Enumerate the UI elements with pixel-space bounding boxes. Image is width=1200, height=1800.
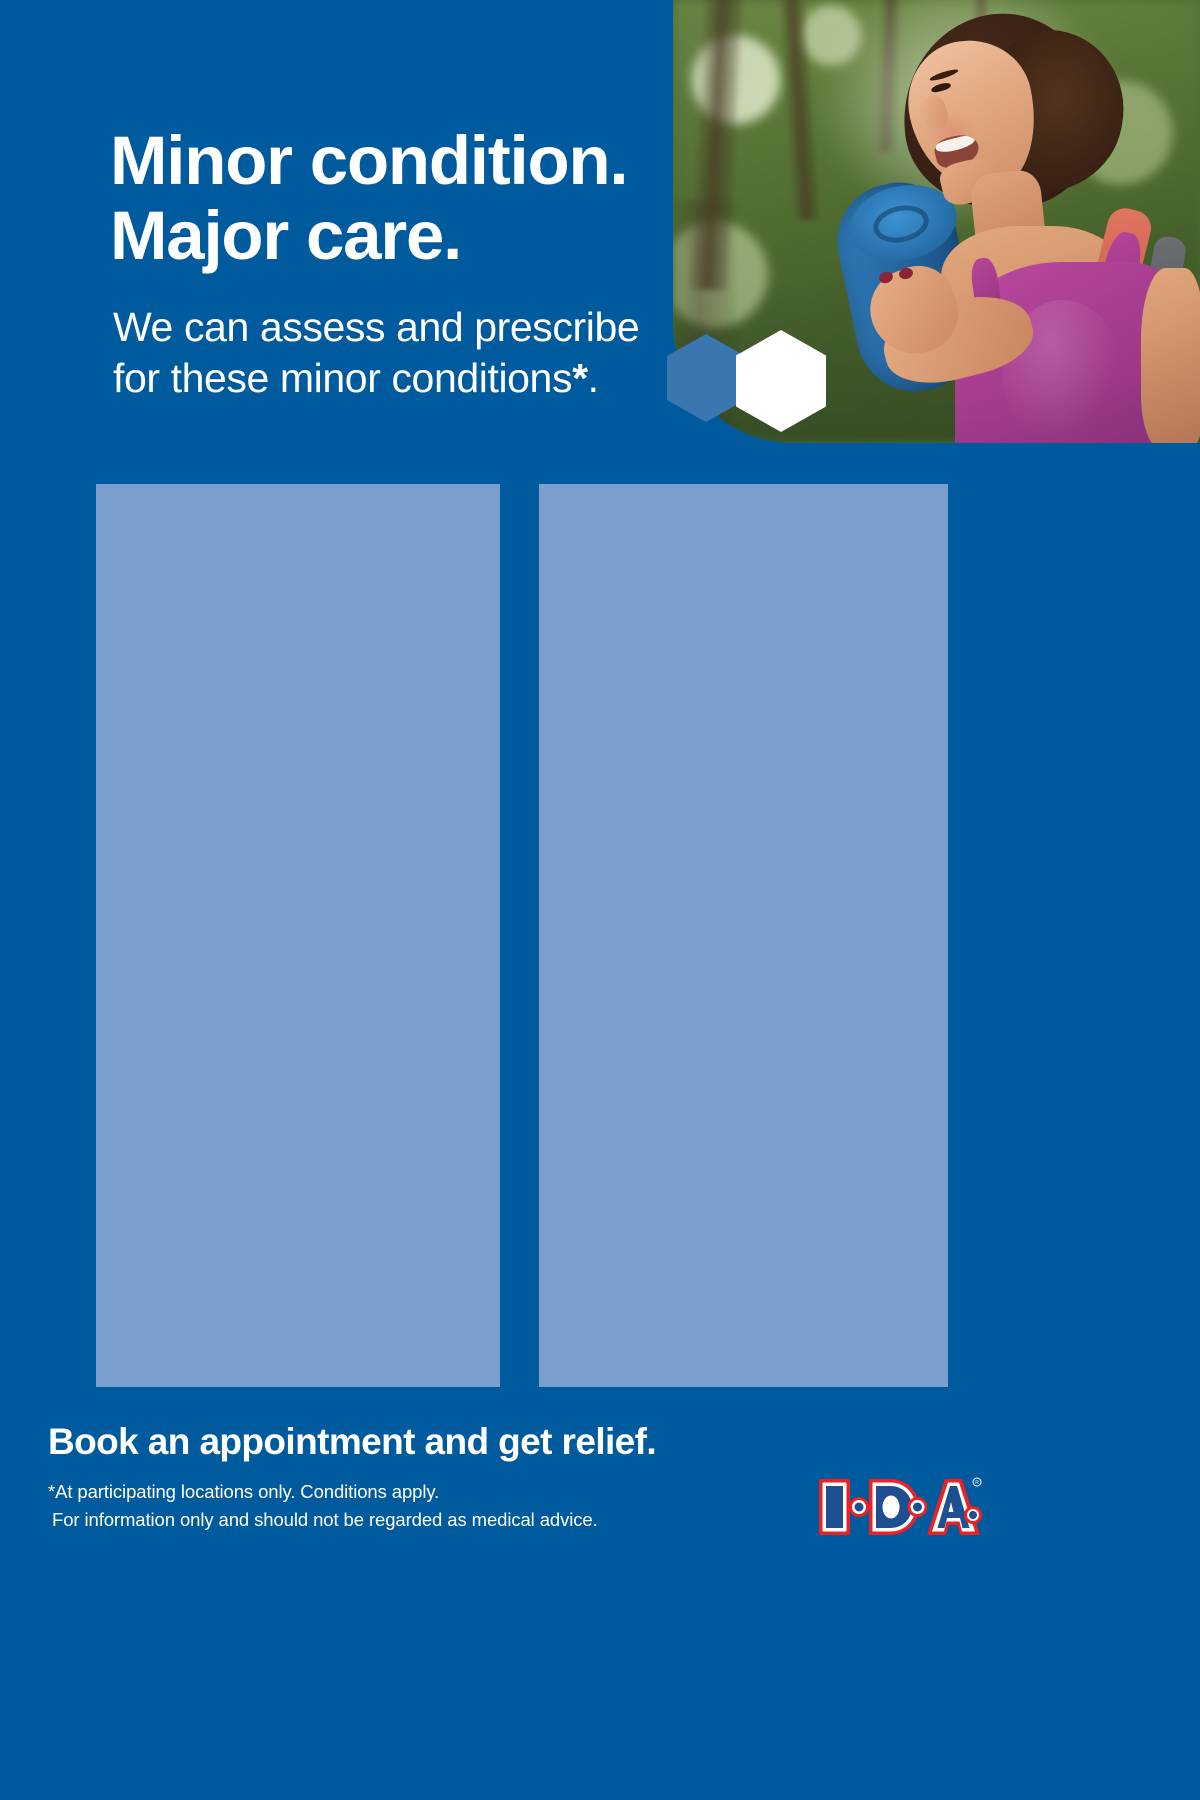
footnote-medical-advice: For information only and should not be r… (48, 1506, 598, 1534)
subheading-line-2-text: for these minor conditions (113, 355, 572, 401)
subheading-asterisk: * (572, 355, 588, 401)
footnote-participating-locations: *At participating locations only. Condit… (48, 1478, 598, 1506)
footnotes: *At participating locations only. Condit… (48, 1478, 598, 1534)
conditions-panel-right (539, 484, 948, 1387)
subheading-period: . (588, 355, 599, 401)
headline-line-2: Major care. (110, 199, 730, 274)
svg-text:R: R (975, 1480, 979, 1486)
conditions-panel-left (96, 484, 500, 1387)
subheading: We can assess and prescribe for these mi… (113, 302, 713, 404)
page-title: Minor condition. Major care. (110, 124, 730, 273)
subheading-line-2: for these minor conditions*. (113, 353, 713, 404)
ida-logo-mark: R (816, 1476, 982, 1538)
poster-canvas: Minor condition. Major care. We can asse… (0, 0, 1200, 1800)
cta-headline: Book an appointment and get relief. (48, 1421, 656, 1463)
registered-trademark-icon: R (973, 1478, 981, 1486)
ida-logo: R (816, 1476, 982, 1538)
headline-line-1: Minor condition. (110, 124, 730, 199)
subheading-line-1: We can assess and prescribe (113, 302, 713, 353)
